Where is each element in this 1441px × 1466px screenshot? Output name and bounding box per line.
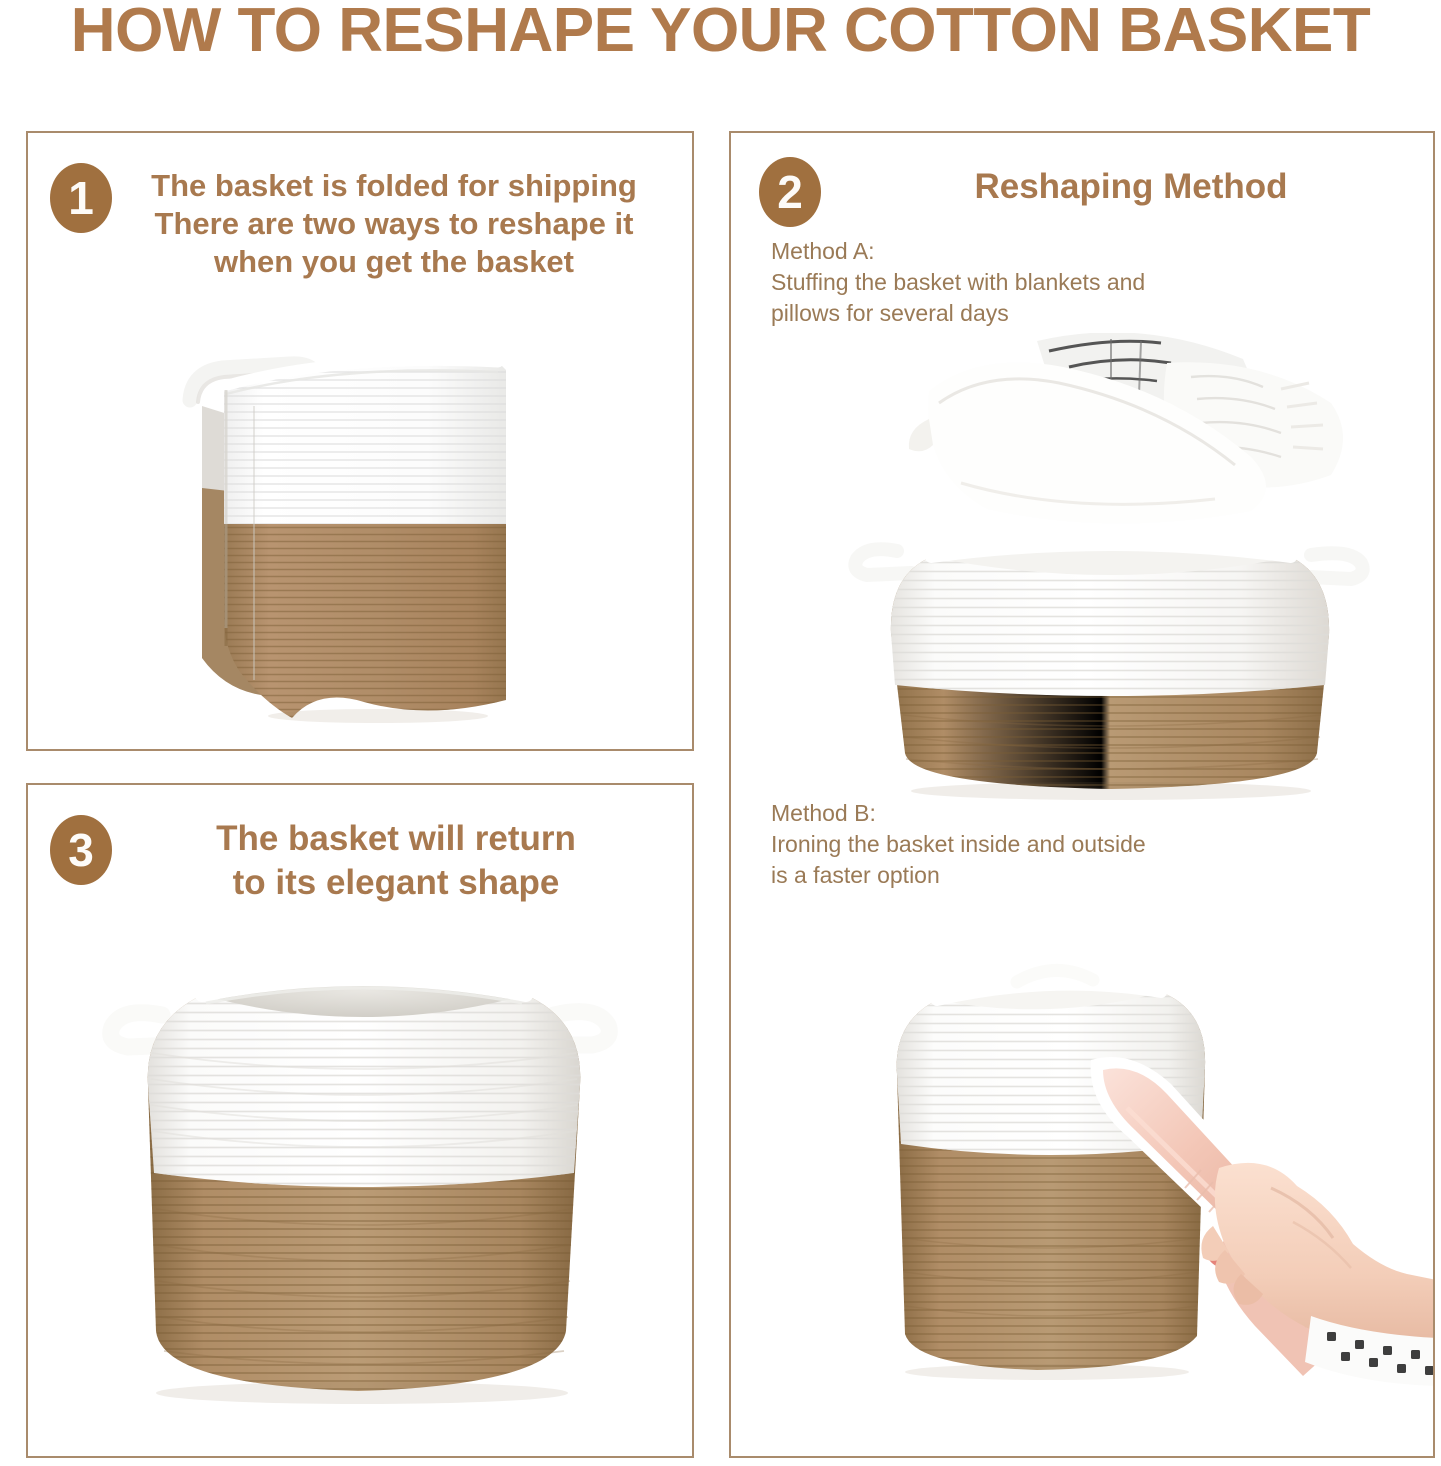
page-title: HOW TO RESHAPE YOUR COTTON BASKET [0, 0, 1441, 66]
folded-basket-image [168, 328, 558, 728]
step-badge-2: 2 [759, 157, 821, 227]
step-badge-1: 1 [50, 163, 112, 233]
step-badge-3: 3 [50, 815, 112, 885]
step-panel-3: 3 The basket will return to its elegant … [26, 783, 694, 1458]
step-3-header: 3 The basket will return to its elegant … [50, 815, 670, 905]
method-a-label: Method A: [771, 236, 1391, 267]
step-3-heading-line-2: to its elegant shape [146, 861, 646, 905]
step-1-heading: The basket is folded for shipping There … [134, 167, 654, 281]
method-a-line-2: pillows for several days [771, 298, 1391, 329]
method-b-text: Method B: Ironing the basket inside and … [771, 798, 1391, 891]
method-a-text: Method A: Stuffing the basket with blank… [771, 236, 1391, 329]
step-panel-1: 1 The basket is folded for shipping Ther… [26, 131, 694, 751]
method-b-line-2: is a faster option [771, 860, 1391, 891]
reshaped-basket-image [86, 945, 646, 1445]
infographic-page: HOW TO RESHAPE YOUR COTTON BASKET 1 The … [0, 0, 1441, 1466]
method-b-line-1: Ironing the basket inside and outside [771, 829, 1391, 860]
step-panel-2: 2 Reshaping Method Method A: Stuffing th… [729, 131, 1435, 1458]
step-3-heading: The basket will return to its elegant sh… [146, 817, 646, 905]
steaming-basket-image [841, 938, 1435, 1458]
step-3-heading-line-1: The basket will return [146, 817, 646, 861]
step-1-heading-line-3: when you get the basket [134, 243, 654, 281]
step-2-header: 2 Reshaping Method [759, 157, 1409, 227]
method-a-line-1: Stuffing the basket with blankets and [771, 267, 1391, 298]
method-b-label: Method B: [771, 798, 1391, 829]
step-1-heading-line-2: There are two ways to reshape it [134, 205, 654, 243]
step-2-heading: Reshaping Method [881, 165, 1381, 209]
step-1-header: 1 The basket is folded for shipping Ther… [50, 163, 670, 281]
step-1-heading-line-1: The basket is folded for shipping [134, 167, 654, 205]
pillow-basket-image [811, 333, 1411, 803]
